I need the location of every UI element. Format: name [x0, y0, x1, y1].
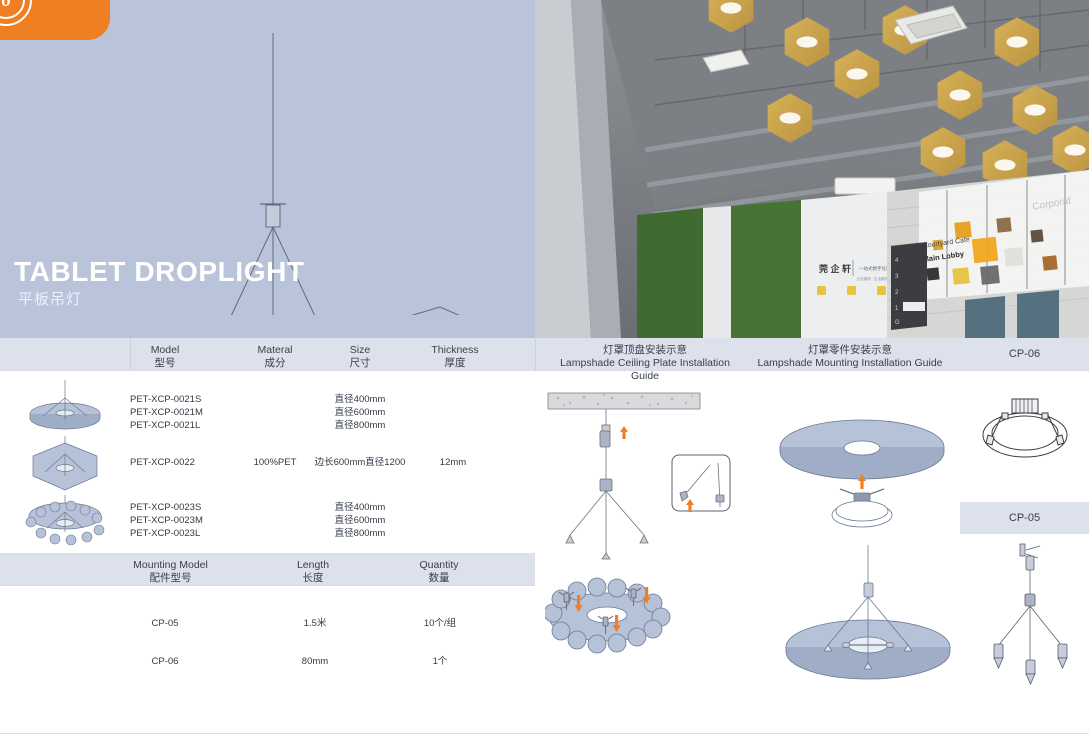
- header-ceiling-plate-guide: 灯罩顶盘安装示意 Lampshade Ceiling Plate Install…: [545, 344, 745, 383]
- logo-glyph: 6: [0, 0, 25, 19]
- chip-cp06: CP-06: [960, 338, 1089, 370]
- page-title: TABLET DROPLIGHT: [14, 258, 305, 286]
- interior-photo: 莞 企 轩 一站式数字化智慧服务运营商 企业服务 · 生活服务: [535, 0, 1089, 338]
- header-mounting-guide: 灯罩零件安装示意 Lampshade Mounting Installation…: [750, 344, 950, 370]
- product-thumbnail-stack: [15, 380, 125, 550]
- spec-model-1: PET-XCP-0022: [130, 456, 195, 469]
- round-plate-suspension-diagram: [772, 545, 972, 690]
- spec-thickness-1: 12mm: [420, 456, 486, 469]
- parts-length-0: 1.5米: [280, 617, 350, 630]
- header-model: Model 型号: [130, 344, 200, 370]
- thumbnail-header-band: [0, 338, 130, 370]
- svg-text:G: G: [895, 320, 900, 326]
- spec-model-0: PET-XCP-0021S PET-XCP-0021M PET-XCP-0021…: [130, 393, 203, 432]
- svg-text:莞 企 轩: 莞 企 轩: [818, 263, 851, 274]
- divider: [0, 585, 535, 586]
- parts-quantity-1: 1个: [405, 655, 475, 668]
- parts-quantity-0: 10个/组: [405, 617, 475, 630]
- footer-divider: [0, 733, 1089, 734]
- page-subtitle: 平板吊灯: [18, 292, 82, 307]
- product-catalog-page: 莞 企 轩 一站式数字化智慧服务运营商 企业服务 · 生活服务: [0, 0, 1089, 738]
- parts-length-1: 80mm: [280, 655, 350, 668]
- gear-plate-mounting-diagram: [545, 565, 745, 685]
- header-quantity: Quantity 数量: [408, 559, 470, 585]
- header-thickness: Thickness 厚度: [420, 344, 490, 370]
- header-length: Length 长度: [283, 559, 343, 585]
- orange-up-arrow-icon: [620, 426, 628, 439]
- chip-cp05: CP-05: [960, 502, 1089, 534]
- lampshade-plate-ring-diagram: [762, 385, 962, 565]
- parts-model-0: CP-05: [115, 617, 215, 630]
- spec-model-2: PET-XCP-0023S PET-XCP-0023M PET-XCP-0023…: [130, 501, 203, 540]
- recessed-downlight-icon: [960, 385, 1089, 505]
- divider: [535, 338, 536, 370]
- orange-circle-logo-icon: 6: [0, 0, 32, 26]
- header-mounting-model: Mounting Model 配件型号: [128, 559, 213, 585]
- spec-size-1: 边长600mm直径1200: [300, 456, 420, 469]
- divider: [0, 370, 1089, 371]
- parts-model-1: CP-06: [115, 655, 215, 668]
- ceiling-plate-installation-diagram: [540, 385, 760, 575]
- spec-size-2: 直径400mm 直径600mm 直径800mm: [300, 501, 420, 540]
- svg-text:企业服务 · 生活服务: 企业服务 · 生活服务: [857, 276, 889, 281]
- spec-size-0: 直径400mm 直径600mm 直径800mm: [300, 393, 420, 432]
- brand-logo-badge[interactable]: 6: [0, 0, 110, 40]
- suspension-cable-kit-icon: [960, 540, 1089, 690]
- hero-section: 莞 企 轩 一站式数字化智慧服务运营商 企业服务 · 生活服务: [0, 0, 1089, 338]
- header-material: Materal 成分: [240, 344, 310, 370]
- header-size: Size 尺寸: [325, 344, 395, 370]
- divider: [130, 338, 131, 370]
